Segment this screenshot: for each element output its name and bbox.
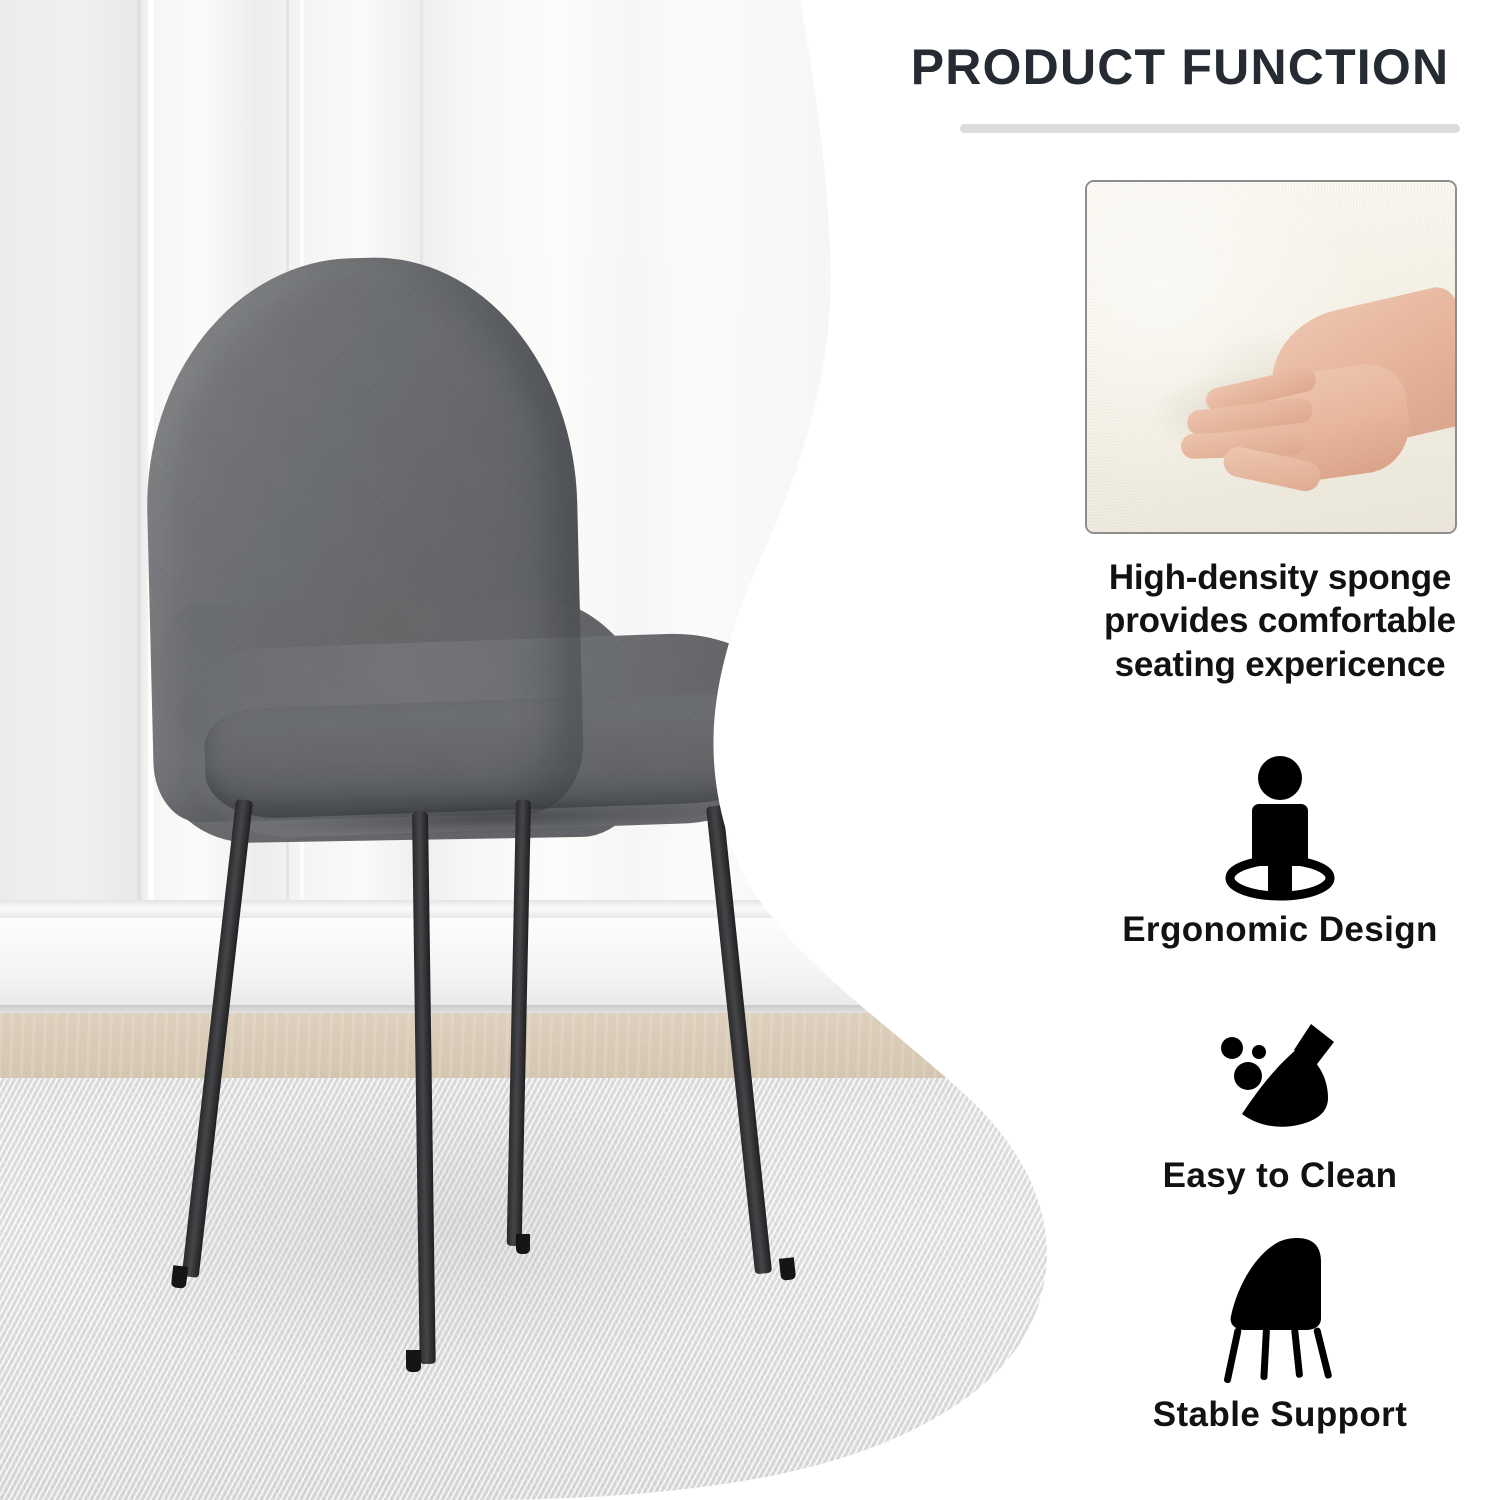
title-divider — [960, 124, 1460, 133]
feature-label-ergonomic: Ergonomic Design — [1060, 910, 1500, 950]
sponge-caption: High-density sponge provides comfortable… — [1055, 556, 1500, 686]
rug-shading — [0, 1078, 1060, 1500]
baseboard-cap — [0, 900, 1060, 918]
sponge-image-card — [1085, 180, 1457, 534]
chair-leg-cap-front-right — [779, 1257, 796, 1280]
chair-leg-cap-back-left — [406, 1350, 421, 1372]
baseboard — [0, 918, 1060, 1013]
page-title: PRODUCT FUNCTION — [860, 38, 1500, 96]
ergonomic-person-icon — [1220, 752, 1340, 902]
feature-item-ergonomic: Ergonomic Design — [1060, 752, 1500, 950]
feature-label-support: Stable Support — [1060, 1395, 1500, 1435]
hero-photo — [0, 0, 1060, 1500]
feature-item-support: Stable Support — [1060, 1232, 1500, 1435]
product-infographic: PRODUCT FUNCTION High-density sponge pro… — [0, 0, 1500, 1500]
chair-fabric-texture — [145, 255, 810, 835]
feature-item-clean: Easy to Clean — [1060, 1018, 1500, 1196]
broom-sweep-icon — [1210, 1018, 1350, 1148]
chair-silhouette-icon — [1205, 1232, 1355, 1387]
chair-leg-cap-back-right — [516, 1234, 530, 1254]
chair-leg-cap-front-left — [171, 1265, 188, 1289]
feature-panel: PRODUCT FUNCTION High-density sponge pro… — [1060, 0, 1500, 1500]
feature-label-clean: Easy to Clean — [1060, 1156, 1500, 1196]
